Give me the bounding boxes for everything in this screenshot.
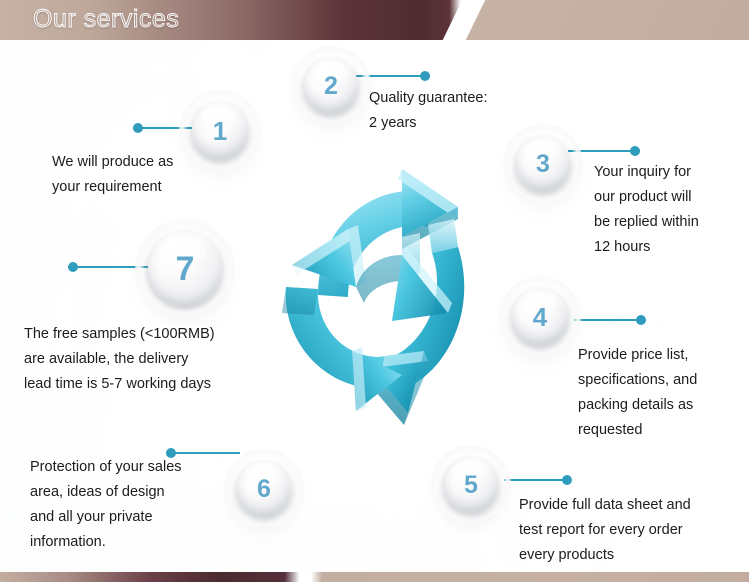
- connector-dot-4: [636, 315, 646, 325]
- page-title: Our services: [33, 5, 179, 34]
- recycle-arrows-icon: [252, 163, 500, 453]
- header-tan-panel: [458, 0, 749, 40]
- step-number-4: 4: [533, 304, 547, 330]
- connector-dot-2: [420, 71, 430, 81]
- connector-dot-3: [630, 146, 640, 156]
- step-text-1-line-2: your requirement: [52, 175, 173, 200]
- step-text-4: Provide price list, specifications, and …: [578, 343, 697, 443]
- step-text-2-line-1: Quality guarantee:: [369, 86, 488, 111]
- step-bubble-5[interactable]: 5: [444, 458, 498, 512]
- step-text-3: Your inquiry for our product will be rep…: [594, 160, 699, 260]
- step-text-1: We will produce as your requirement: [52, 150, 173, 200]
- step-number-2: 2: [324, 74, 338, 99]
- connector-line-5: [504, 479, 572, 481]
- step-number-5: 5: [464, 473, 478, 498]
- services-infographic: Our services: [0, 0, 749, 582]
- step-text-6-line-2: area, ideas of design: [30, 480, 182, 505]
- step-text-5-line-3: every products: [519, 543, 691, 568]
- connector-line-6: [166, 452, 240, 454]
- step-text-6-line-3: and all your private: [30, 505, 182, 530]
- step-bubble-7[interactable]: 7: [148, 232, 222, 306]
- connector-dot-1: [133, 123, 143, 133]
- step-text-7-line-1: The free samples (<100RMB): [24, 322, 215, 347]
- step-text-7-line-3: lead time is 5-7 working days: [24, 372, 215, 397]
- step-number-7: 7: [176, 252, 195, 286]
- step-text-3-line-3: be replied within: [594, 210, 699, 235]
- step-text-7-line-2: are available, the delivery: [24, 347, 215, 372]
- step-number-3: 3: [536, 152, 550, 177]
- step-text-4-line-4: requested: [578, 418, 697, 443]
- connector-line-4: [574, 319, 646, 321]
- step-text-6-line-4: information.: [30, 530, 182, 555]
- step-text-3-line-2: our product will: [594, 185, 699, 210]
- step-text-5-line-1: Provide full data sheet and: [519, 493, 691, 518]
- step-text-7: The free samples (<100RMB) are available…: [24, 322, 215, 397]
- header-band: Our services: [0, 0, 749, 40]
- step-text-4-line-3: packing details as: [578, 393, 697, 418]
- connector-dot-7: [68, 262, 78, 272]
- step-bubble-1[interactable]: 1: [192, 103, 248, 159]
- step-text-3-line-4: 12 hours: [594, 235, 699, 260]
- step-bubble-2[interactable]: 2: [304, 59, 358, 113]
- step-text-4-line-1: Provide price list,: [578, 343, 697, 368]
- step-text-6-line-1: Protection of your sales: [30, 455, 182, 480]
- step-bubble-3[interactable]: 3: [516, 137, 570, 191]
- step-text-1-line-1: We will produce as: [52, 150, 173, 175]
- step-number-1: 1: [213, 118, 227, 144]
- connector-dot-5: [562, 475, 572, 485]
- step-text-4-line-2: specifications, and: [578, 368, 697, 393]
- step-text-5: Provide full data sheet and test report …: [519, 493, 691, 568]
- footer-band: [0, 572, 749, 582]
- step-text-6: Protection of your sales area, ideas of …: [30, 455, 182, 555]
- step-text-2: Quality guarantee: 2 years: [369, 86, 488, 136]
- step-text-2-line-2: 2 years: [369, 111, 488, 136]
- step-bubble-4[interactable]: 4: [512, 289, 568, 345]
- step-text-5-line-2: test report for every order: [519, 518, 691, 543]
- step-text-3-line-1: Your inquiry for: [594, 160, 699, 185]
- step-number-6: 6: [257, 477, 271, 502]
- step-bubble-6[interactable]: 6: [237, 462, 291, 516]
